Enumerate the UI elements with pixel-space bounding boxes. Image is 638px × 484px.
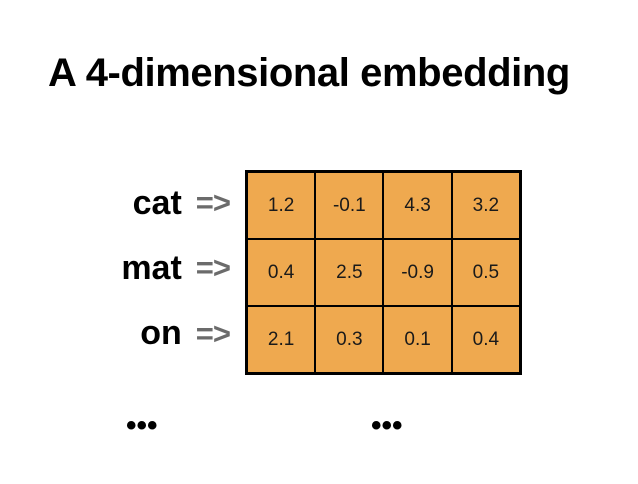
- ellipsis-icon-matrix: •••: [371, 420, 403, 432]
- embedding-cell: 0.5: [452, 239, 521, 306]
- table-row: 0.4 2.5 -0.9 0.5: [247, 239, 521, 306]
- embedding-cell: 2.5: [315, 239, 383, 306]
- arrow-icon-mat: =>: [196, 252, 230, 283]
- word-label-list: cat => mat => on =>: [30, 170, 232, 366]
- embedding-cell: 0.4: [247, 239, 316, 306]
- arrow-icon-on: =>: [196, 318, 230, 349]
- ellipsis-icon-words: •••: [126, 420, 158, 432]
- word-row-on: on =>: [30, 301, 232, 366]
- embedding-cell: 0.3: [315, 306, 383, 374]
- embedding-cell: -0.1: [315, 172, 383, 240]
- slide-canvas: A 4-dimensional embedding cat => mat => …: [0, 0, 638, 484]
- embedding-cell: 2.1: [247, 306, 316, 374]
- embedding-cell: 0.1: [383, 306, 451, 374]
- embedding-cell: -0.9: [383, 239, 451, 306]
- word-row-cat: cat =>: [30, 170, 232, 235]
- table-row: 1.2 -0.1 4.3 3.2: [247, 172, 521, 240]
- embedding-cell: 0.4: [452, 306, 521, 374]
- word-row-mat: mat =>: [30, 235, 232, 300]
- arrow-icon-cat: =>: [196, 187, 230, 218]
- word-label-cat: cat: [133, 186, 182, 220]
- table-row: 2.1 0.3 0.1 0.4: [247, 306, 521, 374]
- page-title: A 4-dimensional embedding: [48, 50, 608, 96]
- embedding-cell: 3.2: [452, 172, 521, 240]
- word-label-mat: mat: [121, 251, 181, 285]
- word-label-on: on: [140, 316, 182, 350]
- embedding-cell: 4.3: [383, 172, 451, 240]
- embedding-matrix: 1.2 -0.1 4.3 3.2 0.4 2.5 -0.9 0.5 2.1 0.…: [245, 170, 522, 375]
- embedding-cell: 1.2: [247, 172, 316, 240]
